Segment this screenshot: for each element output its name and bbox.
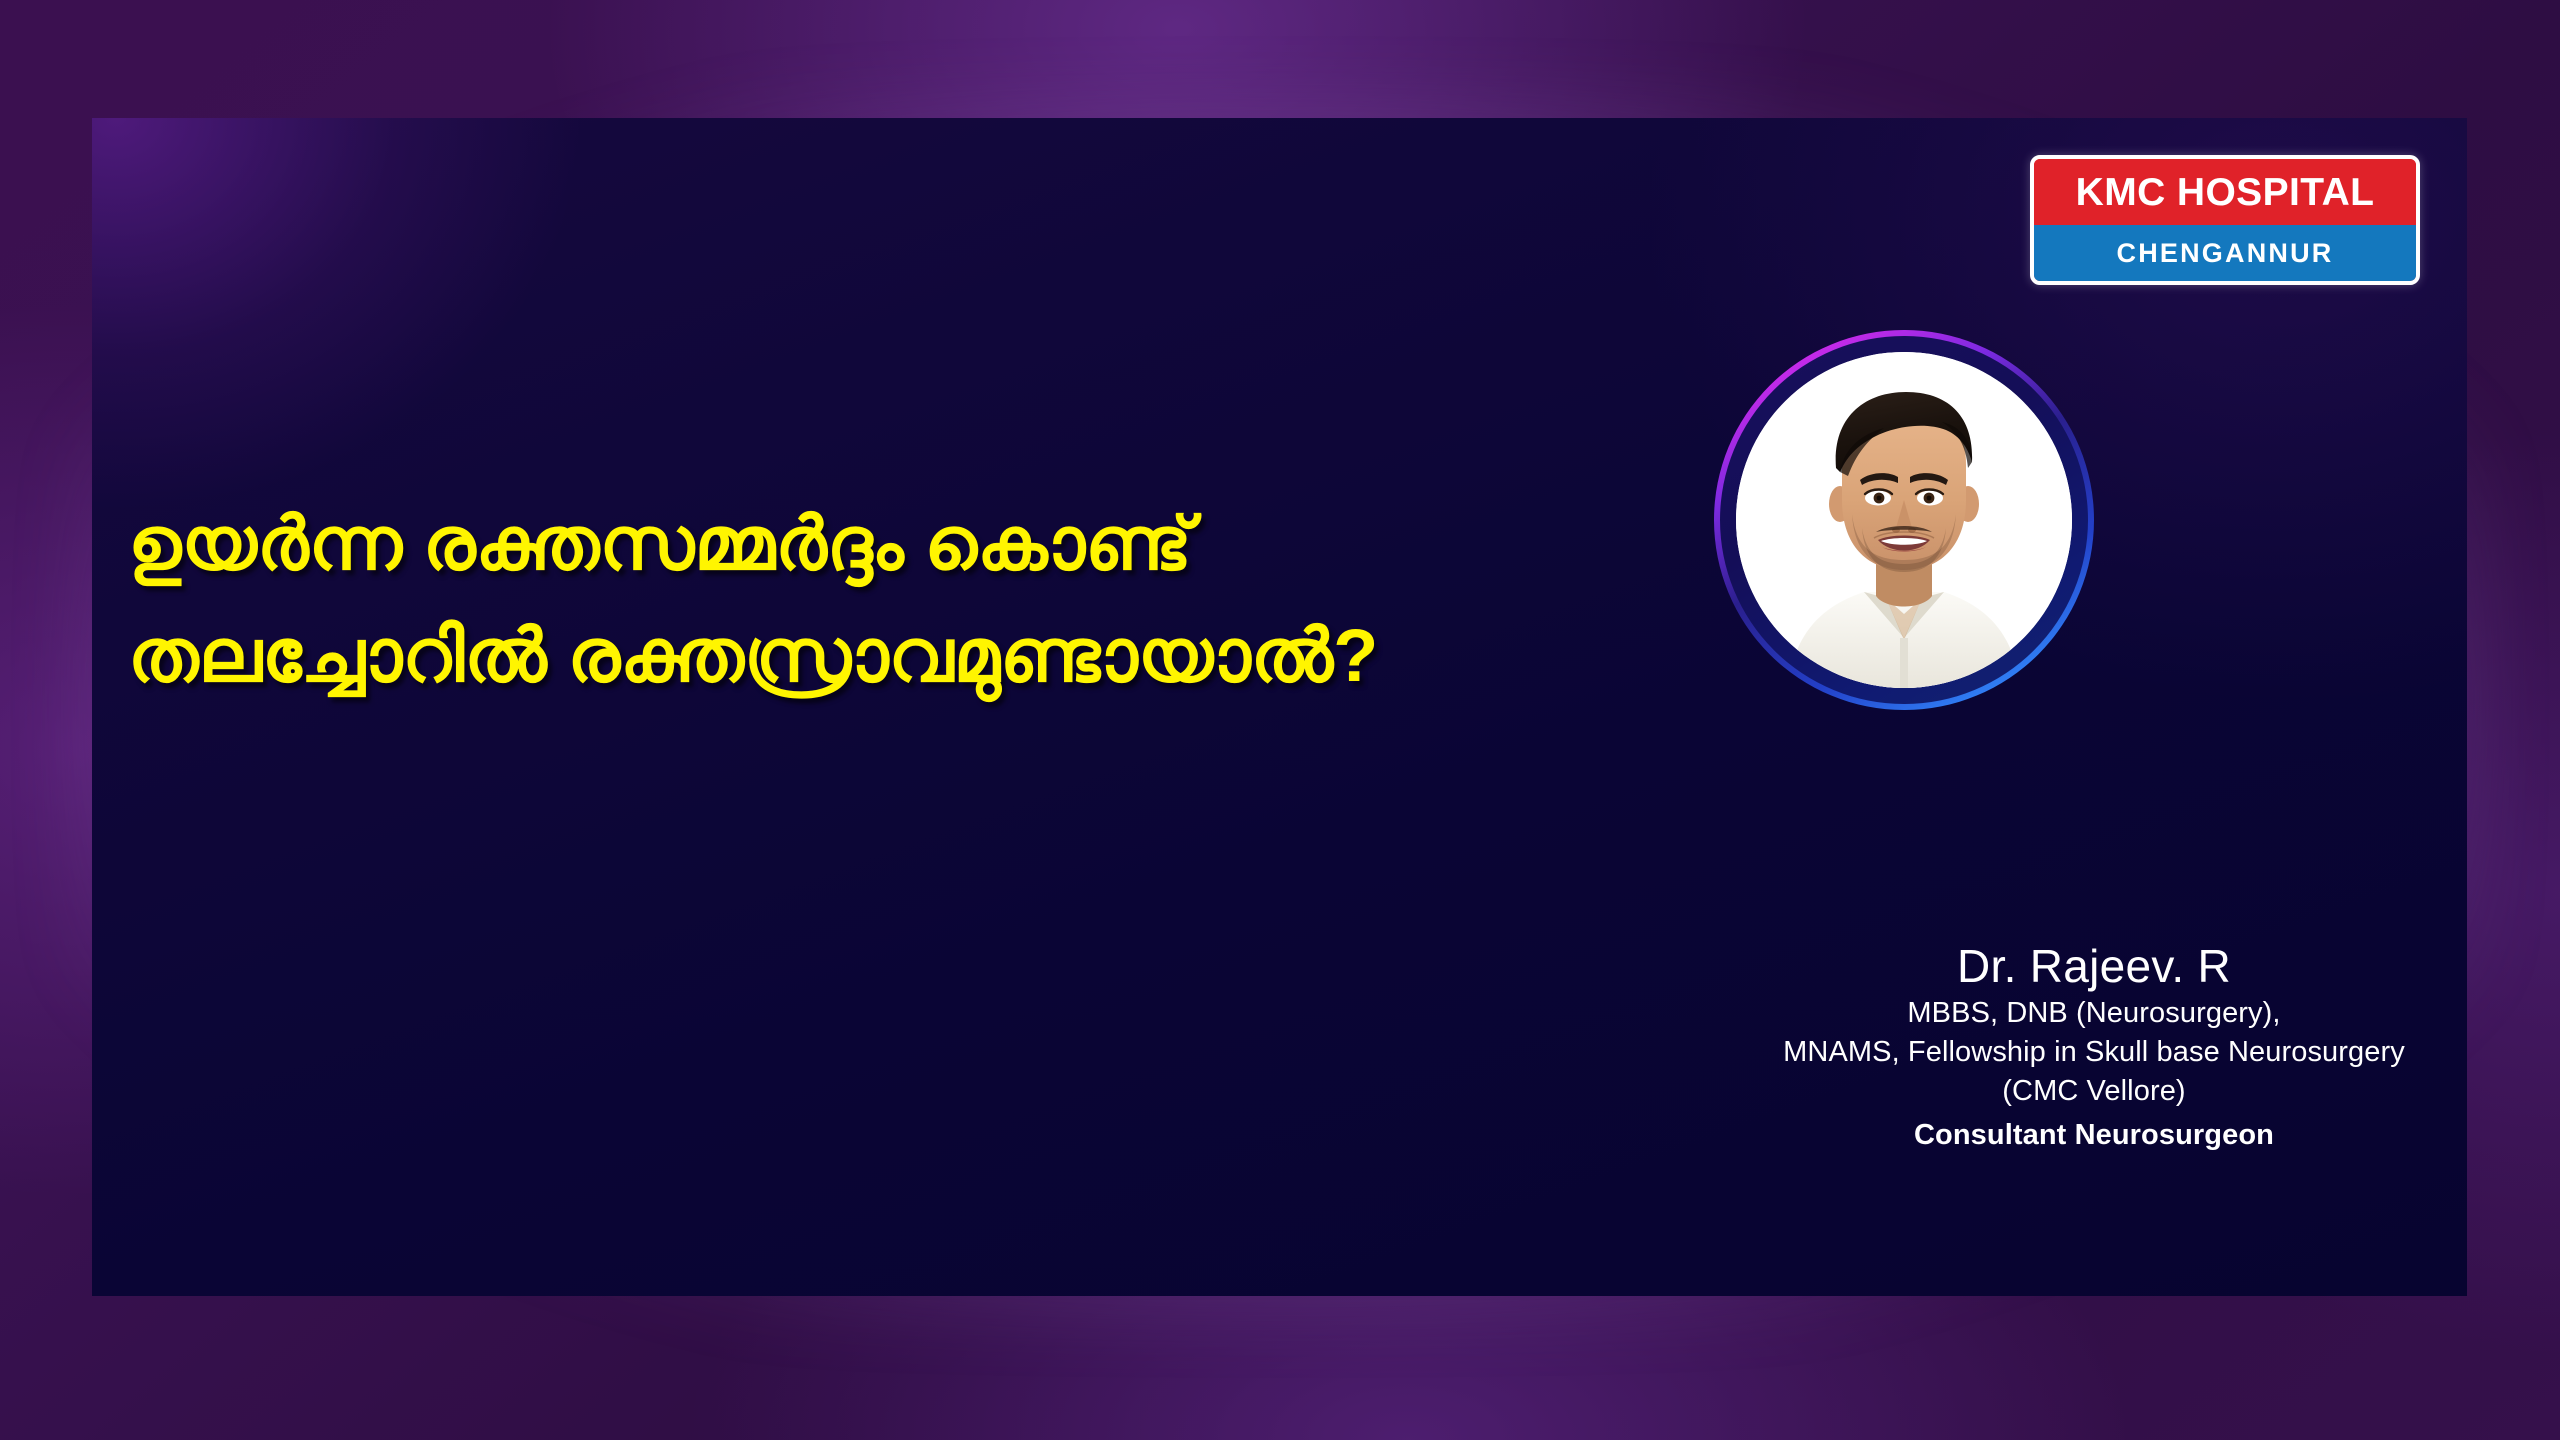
- headline: ഉയർന്ന രക്തസമ്മർദ്ദം കൊണ്ട് തലച്ചോറിൽ രക…: [128, 488, 1688, 713]
- doctor-photo: [1736, 352, 2072, 688]
- doctor-credential-line-1: MBBS, DNB (Neurosurgery),: [1504, 994, 2467, 1033]
- headline-line-2: തലച്ചോറിൽ രക്തസ്രാവമുണ്ടായാൽ?: [128, 600, 1688, 712]
- logo-hospital-name: KMC HOSPITAL: [2076, 173, 2375, 212]
- doctor-name: Dr. Rajeev. R: [1504, 938, 2467, 994]
- doctor-portrait: [1714, 330, 2094, 710]
- headline-line-1: ഉയർന്ന രക്തസമ്മർദ്ദം കൊണ്ട്: [128, 488, 1688, 600]
- logo-branch-band: CHENGANNUR: [2034, 225, 2416, 281]
- kmc-hospital-logo: KMC HOSPITAL CHENGANNUR: [2030, 155, 2420, 285]
- doctor-credential-line-3: (CMC Vellore): [1504, 1072, 2467, 1111]
- doctor-credential-line-2: MNAMS, Fellowship in Skull base Neurosur…: [1504, 1033, 2467, 1072]
- doctor-role: Consultant Neurosurgeon: [1504, 1116, 2467, 1155]
- doctor-info: Dr. Rajeev. R MBBS, DNB (Neurosurgery), …: [1504, 938, 2467, 1155]
- slide-stage: KMC HOSPITAL CHENGANNUR ഉയർന്ന രക്തസമ്മർ…: [0, 0, 2560, 1440]
- content-panel: KMC HOSPITAL CHENGANNUR ഉയർന്ന രക്തസമ്മർ…: [92, 118, 2467, 1296]
- logo-name-band: KMC HOSPITAL: [2034, 159, 2416, 225]
- logo-branch-name: CHENGANNUR: [2117, 240, 2334, 267]
